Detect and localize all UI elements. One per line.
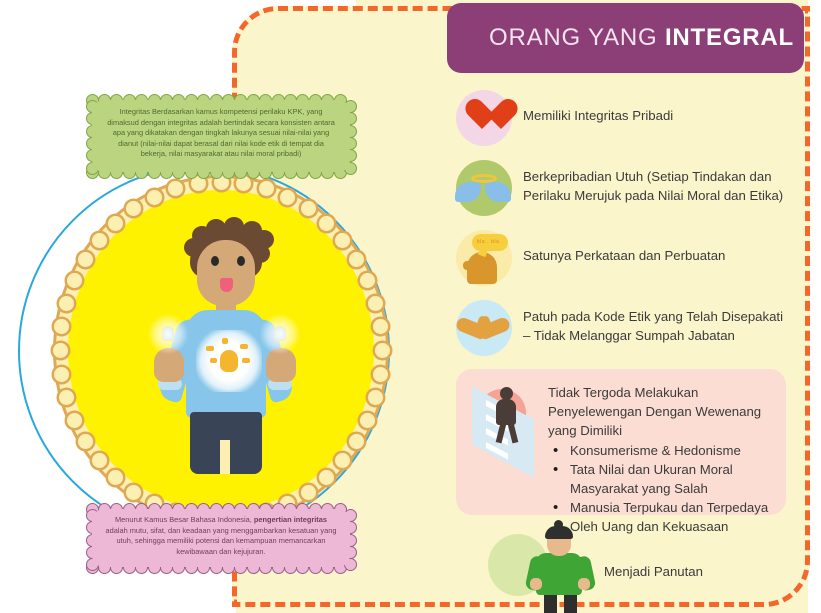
- angel-wings-icon: [452, 158, 514, 220]
- bullet-item: Konsumerisme & Hedonisme: [548, 441, 776, 460]
- kbbi-lead: Menurut Kamus Besar Bahasa Indonesia,: [115, 515, 254, 524]
- kbbi-bold-2: integritas: [294, 515, 327, 524]
- man-leg-right: [564, 592, 577, 613]
- title-banner: ORANG YANG INTEGRAL: [447, 3, 804, 73]
- title-bold: INTEGRAL: [665, 24, 794, 51]
- temptation-highlight-block[interactable]: Tidak Tergoda Melakukan Penyelewengan De…: [456, 369, 786, 515]
- person-walking-icon: [468, 385, 540, 465]
- title-regular: ORANG YANG: [489, 24, 665, 51]
- temptation-text: Tidak Tergoda Melakukan Penyelewengan De…: [548, 383, 776, 536]
- definition-box-kbbi: Menurut Kamus Besar Bahasa Indonesia, pe…: [92, 509, 350, 567]
- speech-head-icon: bla . bla . bla: [452, 228, 514, 290]
- kbbi-tail: adalah mutu, sifat, dan keadaan yang men…: [106, 526, 337, 556]
- walker-body: [496, 399, 516, 425]
- list-item[interactable]: Memiliki Integritas Pribadi: [452, 88, 792, 150]
- list-item-label: Memiliki Integritas Pribadi: [514, 88, 673, 125]
- list-item[interactable]: Berkepribadian Utuh (Setiap Tindakan dan…: [452, 158, 792, 220]
- chest-glow: [196, 330, 262, 392]
- pinky-promise-icon: [452, 298, 514, 360]
- boy-head: [197, 240, 255, 306]
- list-item-label: Satunya Perkataan dan Perbuatan: [514, 228, 725, 265]
- list-item[interactable]: Menjadi Panutan: [452, 518, 792, 610]
- man-leg-left: [544, 592, 557, 613]
- kbbi-bold-1: pengertian: [254, 515, 292, 524]
- attributes-list: Memiliki Integritas Pribadi Berkepribadi…: [452, 88, 792, 368]
- left-hand-glow: [148, 314, 188, 354]
- chest-bulb-icon: [220, 350, 238, 372]
- list-item-label: Patuh pada Kode Etik yang Telah Disepaka…: [514, 298, 792, 345]
- speech-bubble-glyph: bla . bla . bla: [472, 234, 508, 251]
- infographic-canvas: ORANG YANG INTEGRAL: [0, 0, 821, 613]
- heart-glyph: [465, 100, 501, 134]
- definition-box-kpk: Integritas Berdasarkan kamus kompetensi …: [92, 100, 350, 172]
- boy-shorts: [190, 412, 262, 474]
- man-shirt: [536, 553, 582, 595]
- boy-mouth: [220, 278, 233, 292]
- halo-glyph: [471, 174, 497, 183]
- boy-illustration: [150, 226, 300, 496]
- definition-box-kpk-text: Integritas Berdasarkan kamus kompetensi …: [106, 107, 336, 160]
- man-hand-left: [530, 578, 542, 590]
- page-title: ORANG YANG INTEGRAL: [489, 24, 794, 52]
- man-hand-right: [578, 578, 590, 590]
- bullet-item: Tata Nilai dan Ukuran Moral Masyarakat y…: [548, 460, 776, 498]
- right-hand-glow: [260, 314, 300, 354]
- boy-eye-right: [237, 256, 245, 266]
- list-item-label: Berkepribadian Utuh (Setiap Tindakan dan…: [514, 158, 792, 205]
- definition-box-kbbi-text: Menurut Kamus Besar Bahasa Indonesia, pe…: [104, 515, 338, 557]
- man-hair: [545, 526, 573, 539]
- boy-eye-left: [211, 256, 219, 266]
- heart-icon: [452, 88, 514, 150]
- list-item-label: Menjadi Panutan: [604, 564, 703, 579]
- list-item[interactable]: bla . bla . bla Satunya Perkataan dan Pe…: [452, 228, 792, 290]
- temptation-heading: Tidak Tergoda Melakukan Penyelewengan De…: [548, 383, 776, 440]
- list-item[interactable]: Patuh pada Kode Etik yang Telah Disepaka…: [452, 298, 792, 360]
